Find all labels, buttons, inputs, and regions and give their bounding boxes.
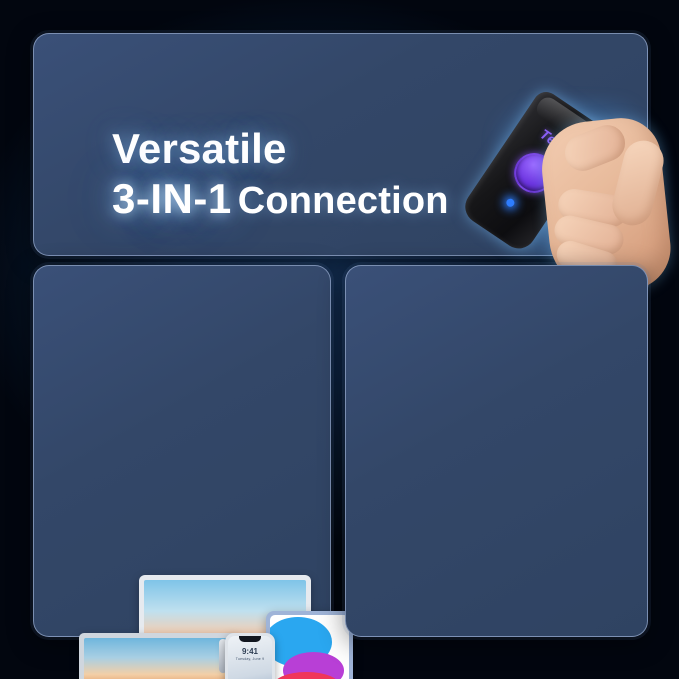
- iphone-screen: 9:41 Tuesday, June 9: [228, 636, 272, 679]
- headline-line-2: 3-IN-1Connection: [112, 178, 449, 220]
- headline-panel: Versatile 3-IN-1Connection Tera: [33, 33, 648, 256]
- ipad-screen: [270, 615, 349, 679]
- scanner-in-hand-photo: Tera: [472, 80, 679, 295]
- iphone-clock: 9:41: [228, 647, 272, 656]
- macbook-screen: [84, 638, 234, 679]
- iphone-notch: [239, 636, 261, 642]
- ipad-device: [266, 611, 353, 679]
- usb-wifi-panel: USB USB Wired Connection 2.4Ghz Wireless…: [345, 265, 648, 637]
- headline-block: Versatile 3-IN-1Connection: [112, 128, 449, 220]
- headline-rest: Connection: [238, 180, 449, 222]
- led-indicator: [505, 197, 516, 208]
- device-cluster-left: 9:41 Tuesday, June 9: [79, 571, 354, 679]
- bluetooth-panel: 9:41 Tuesday, June 9 BT Wireless Connect…: [33, 265, 331, 637]
- headline-line-1: Versatile: [112, 128, 449, 170]
- headline-emphasis: 3-IN-1: [112, 175, 232, 222]
- infographic-canvas: Versatile 3-IN-1Connection Tera: [0, 0, 679, 679]
- macbook-lid: [79, 633, 239, 679]
- iphone-date: Tuesday, June 9: [228, 657, 272, 661]
- iphone-device: 9:41 Tuesday, June 9: [225, 633, 275, 679]
- macbook-device: [79, 633, 239, 679]
